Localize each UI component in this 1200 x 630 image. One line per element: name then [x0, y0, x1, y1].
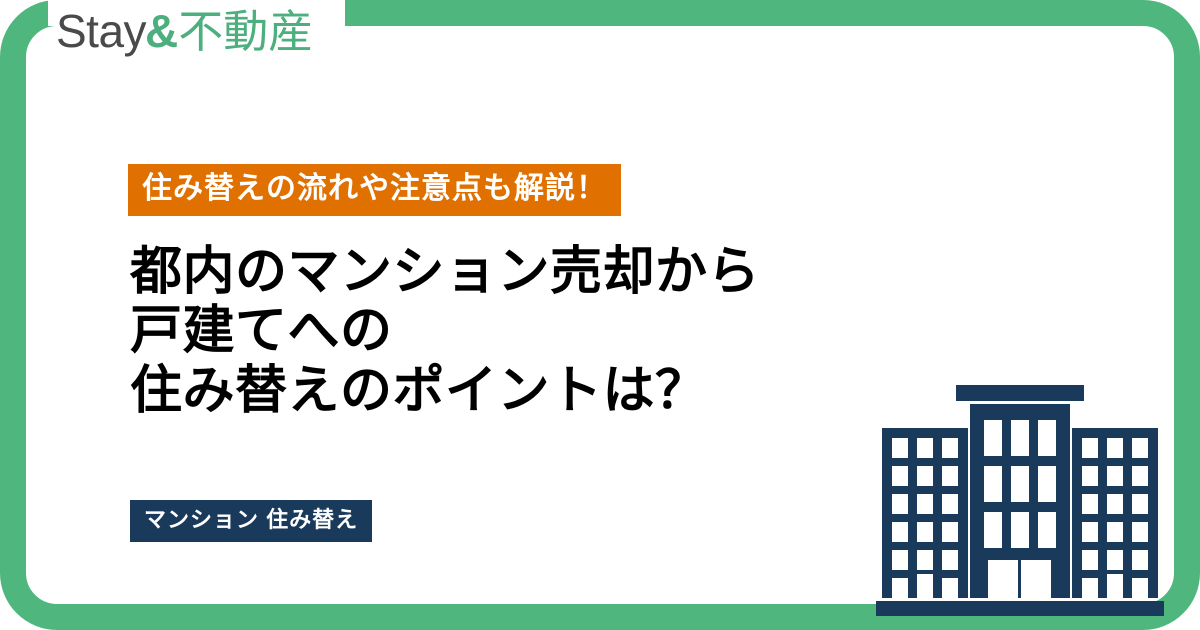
- right-window: [1082, 578, 1098, 598]
- headline-line-1: 都内のマンション売却から: [130, 243, 760, 302]
- site-logo[interactable]: Stay & 不動産: [56, 8, 313, 54]
- left-window: [892, 438, 908, 458]
- right-window: [1082, 550, 1098, 570]
- right-window: [1082, 466, 1098, 486]
- right-window: [1132, 438, 1148, 458]
- right-window: [1132, 578, 1148, 598]
- right-window: [1082, 522, 1098, 542]
- left-window: [942, 466, 958, 486]
- logo-stay-text: Stay: [56, 8, 146, 54]
- left-window: [917, 438, 933, 458]
- og-image-canvas: Stay & 不動産 住み替えの流れや注意点も解説！ 都内のマンション売却から …: [0, 0, 1200, 630]
- right-window: [1107, 522, 1123, 542]
- left-window: [892, 578, 908, 598]
- center-window: [1038, 466, 1056, 502]
- left-window: [917, 494, 933, 514]
- logo-japanese-text: 不動産: [178, 9, 313, 54]
- right-window: [1132, 494, 1148, 514]
- left-window: [942, 494, 958, 514]
- left-window: [917, 466, 933, 486]
- left-window: [942, 438, 958, 458]
- right-building-door: [1107, 574, 1123, 598]
- left-window: [917, 550, 933, 570]
- right-window: [1132, 466, 1148, 486]
- left-window: [942, 550, 958, 570]
- right-window: [1132, 550, 1148, 570]
- center-window: [984, 512, 1002, 548]
- right-window: [1107, 494, 1123, 514]
- center-building-roof-bar: [956, 385, 1084, 401]
- left-building-door: [917, 574, 933, 598]
- subtitle-badge: 住み替えの流れや注意点も解説！: [128, 164, 621, 216]
- center-window: [1038, 512, 1056, 548]
- center-building-door-left: [988, 560, 1018, 598]
- page-title: 都内のマンション売却から 戸建てへの 住み替えのポイントは？: [130, 243, 760, 421]
- left-window: [942, 578, 958, 598]
- headline-line-2: 戸建てへの: [130, 302, 760, 361]
- right-window: [1107, 550, 1123, 570]
- center-building-door-right: [1021, 560, 1051, 598]
- ground-base-bar: [876, 601, 1164, 616]
- headline-line-3: 住み替えのポイントは？: [130, 362, 760, 421]
- center-window: [984, 420, 1002, 456]
- left-window: [892, 466, 908, 486]
- center-window: [1038, 420, 1056, 456]
- left-window: [942, 522, 958, 542]
- left-window: [917, 522, 933, 542]
- logo-ampersand: &: [145, 8, 178, 54]
- right-window: [1107, 466, 1123, 486]
- keyword-tag: マンション 住み替え: [130, 500, 372, 542]
- left-window: [892, 550, 908, 570]
- right-window: [1132, 522, 1148, 542]
- right-window: [1107, 438, 1123, 458]
- center-window: [984, 466, 1002, 502]
- right-window: [1082, 438, 1098, 458]
- center-window: [1011, 466, 1029, 502]
- left-window: [892, 522, 908, 542]
- center-window: [1011, 512, 1029, 548]
- left-window: [892, 494, 908, 514]
- right-window: [1082, 494, 1098, 514]
- apartment-buildings-icon: [860, 370, 1180, 620]
- center-window: [1011, 420, 1029, 456]
